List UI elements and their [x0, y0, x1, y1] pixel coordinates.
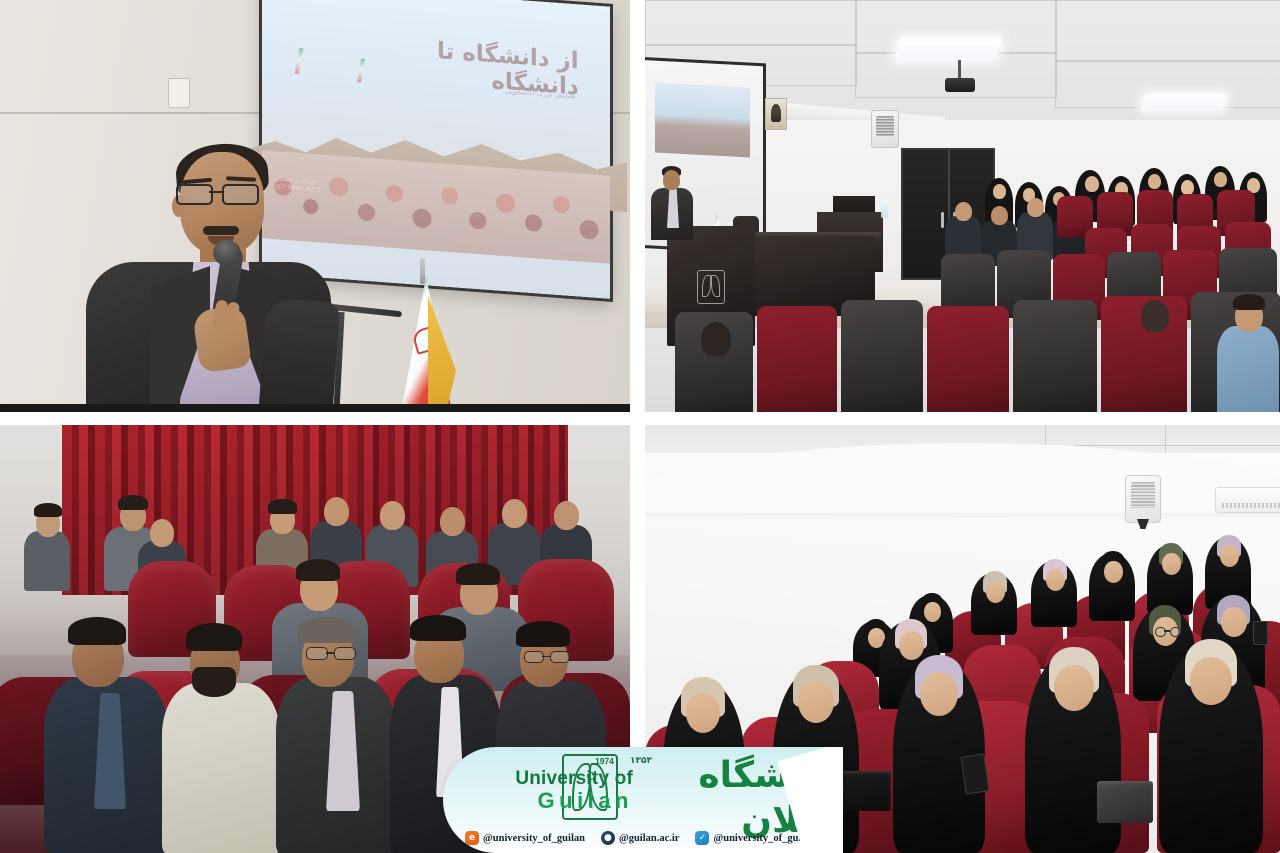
english-university-name: University of Guilan — [505, 769, 633, 812]
speaker-mustache — [203, 226, 239, 235]
social-telegram[interactable]: ✓ @university_of_guilan — [695, 831, 815, 845]
seat — [927, 306, 1009, 412]
podium-emblem-icon — [697, 270, 725, 304]
ceiling-projector — [945, 78, 975, 92]
projector-mount-rod — [958, 60, 961, 80]
telegram-handle[interactable]: @university_of_guilan — [713, 833, 815, 844]
person-hair — [410, 615, 466, 641]
seated-man-front — [162, 683, 280, 853]
eitaa-handle[interactable]: @university_of_guilan — [483, 833, 585, 844]
university-of-guilan-logo-banner: 1974 ۱۳۵۳ University of Guilan دانشگاه گ… — [443, 747, 843, 853]
speaker-right-arm — [258, 298, 341, 412]
photo-speaker-at-podium: از دانشگاه تا دانشگاه همایش بزرگ دانشجوی… — [0, 0, 630, 412]
speaker-head — [663, 170, 680, 190]
ceiling-tile — [645, 0, 857, 46]
person-head — [440, 507, 465, 536]
person-hair — [1233, 294, 1265, 310]
person-hair — [118, 495, 148, 510]
person-head — [502, 499, 527, 528]
person-head-back — [701, 322, 731, 356]
person-face — [1162, 553, 1181, 575]
person-hair — [186, 623, 242, 651]
handbag[interactable] — [1097, 781, 1153, 823]
telegram-icon: ✓ — [695, 831, 709, 845]
person-hair — [296, 559, 340, 581]
seated-man-blue-shirt — [1217, 326, 1279, 412]
person-hair — [68, 617, 126, 645]
photo-lecture-hall-wide — [645, 0, 1280, 412]
flag-pole-finial — [420, 258, 425, 284]
slide-watermark: خبرگزاری دانشجو ICT.BAWI.INFO — [276, 175, 320, 195]
ceiling-grid-line — [1075, 445, 1280, 446]
eyeglasses-icon — [176, 184, 262, 201]
person-face — [686, 693, 720, 733]
projection-screen: از دانشگاه تا دانشگاه همایش بزرگ دانشجوی… — [262, 0, 610, 299]
ceiling-panel-light — [894, 38, 1001, 60]
person-hair — [268, 499, 297, 514]
person-head — [955, 202, 972, 221]
person-face — [993, 184, 1006, 199]
eitaa-icon: e — [465, 831, 479, 845]
person-face — [1085, 176, 1099, 192]
person-face — [920, 672, 958, 716]
person-hair — [456, 563, 500, 585]
mobile-phone[interactable] — [960, 754, 989, 795]
eyeglasses-icon — [306, 647, 356, 658]
bale-icon: ● — [601, 831, 615, 845]
person-hair-grey — [298, 617, 356, 643]
person-face — [1181, 180, 1194, 195]
person-head — [150, 519, 174, 547]
wall-speaker-icon — [871, 110, 899, 148]
banner-inner: 1974 ۱۳۵۳ University of Guilan دانشگاه گ… — [443, 747, 843, 853]
person-head — [324, 497, 349, 526]
wall-speaker-icon — [1125, 475, 1161, 523]
person-face — [1046, 569, 1065, 591]
person-face — [1221, 607, 1247, 637]
light-switch — [168, 78, 190, 108]
eyeglasses-icon — [1155, 627, 1179, 635]
ceiling-tile — [1055, 0, 1280, 62]
person-head-back — [1141, 300, 1169, 332]
eyeglasses-icon — [524, 651, 570, 661]
person-face — [986, 581, 1005, 603]
person-face — [899, 631, 924, 660]
ceiling-panel-light — [1141, 94, 1227, 110]
seat — [841, 300, 923, 412]
projected-slide-image — [655, 83, 750, 158]
foreground-table-edge — [0, 404, 630, 412]
framed-portrait — [765, 98, 787, 130]
social-eitaa[interactable]: e @university_of_guilan — [465, 831, 585, 845]
person-face — [1190, 657, 1232, 705]
collage-canvas: از دانشگاه تا دانشگاه همایش بزرگ دانشجوی… — [0, 0, 1280, 853]
seated-man — [24, 531, 70, 591]
mobile-phone[interactable] — [1253, 621, 1268, 645]
english-line-1: University of — [505, 769, 633, 789]
person-face — [1148, 174, 1161, 189]
person-hair — [34, 503, 62, 517]
person-face — [1104, 561, 1123, 583]
social-handles-bar: e @university_of_guilan ● @guilan.ac.ir … — [465, 831, 835, 845]
person-head — [1027, 198, 1044, 217]
persian-university-name: دانشگاه گیلان — [645, 753, 835, 843]
seat — [757, 306, 837, 412]
person-face — [798, 681, 834, 723]
person-face — [924, 602, 941, 622]
person-face — [1214, 172, 1227, 187]
person-hair — [516, 621, 570, 647]
split-air-conditioner — [1215, 487, 1280, 513]
english-line-2: Guilan — [505, 789, 633, 812]
person-head — [991, 206, 1008, 225]
water-bottle — [881, 200, 888, 218]
door-handle[interactable] — [941, 212, 944, 228]
person-head — [380, 501, 405, 530]
person-face — [1054, 665, 1094, 711]
person-face — [1220, 545, 1239, 567]
person-beard — [192, 667, 236, 697]
person-head — [554, 501, 579, 530]
social-bale[interactable]: ● @guilan.ac.ir — [601, 831, 680, 845]
bale-handle[interactable]: @guilan.ac.ir — [619, 833, 680, 844]
seat — [1013, 300, 1097, 412]
